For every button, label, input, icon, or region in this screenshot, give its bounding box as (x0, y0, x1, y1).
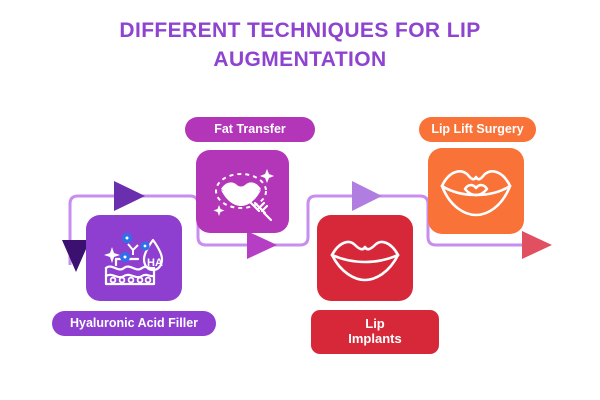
card-hyaluronic-acid-filler[interactable]: HA (86, 215, 182, 301)
label-lip-lift-surgery[interactable]: Lip Lift Surgery (419, 117, 536, 142)
arrow-to-lip-implants-icon (247, 231, 277, 259)
ha-badge-text: HA (147, 257, 163, 269)
card-lip-lift-surgery[interactable] (428, 148, 524, 234)
arrow-to-lip-lift-icon (352, 181, 382, 211)
arrow-to-fat-transfer-icon (114, 181, 145, 211)
label-fat-transfer[interactable]: Fat Transfer (185, 117, 315, 142)
lips-outline-icon (327, 230, 403, 286)
label-hyaluronic-acid-filler[interactable]: Hyaluronic Acid Filler (52, 311, 216, 336)
card-lip-implants[interactable] (317, 215, 413, 301)
lips-syringe-sparkle-icon (207, 161, 279, 223)
arrow-end-icon (522, 231, 552, 259)
skin-layers-ha-droplet-icon: HA (98, 226, 170, 290)
label-lip-implants[interactable]: Lip Implants (311, 310, 439, 354)
full-lips-outline-icon (437, 162, 515, 220)
infographic-canvas: DIFFERENT TECHNIQUES FOR LIP AUGMENTATIO… (0, 0, 600, 400)
card-fat-transfer[interactable] (196, 150, 289, 233)
